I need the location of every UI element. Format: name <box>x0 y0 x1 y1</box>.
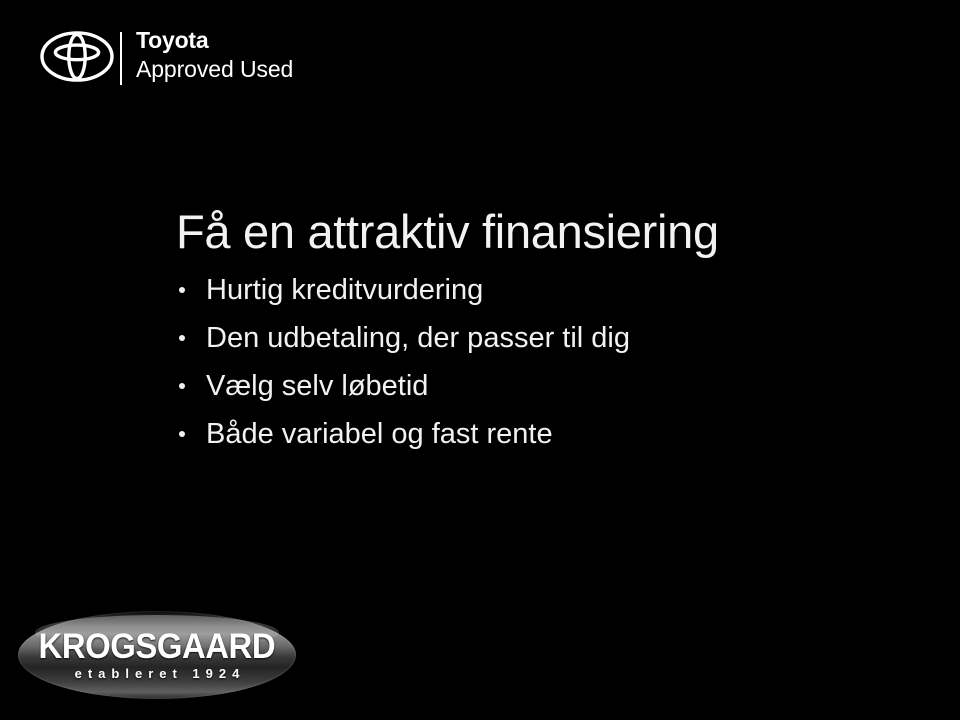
page-title: Få en attraktiv finansiering <box>176 204 856 260</box>
bullet-dot-icon <box>179 287 185 293</box>
presentation-slide: Toyota Approved Used Få en attraktiv fin… <box>0 0 960 720</box>
list-item-label: Vælg selv løbetid <box>206 370 428 402</box>
list-item: Vælg selv løbetid <box>176 362 856 410</box>
list-item: Både variabel og fast rente <box>176 410 856 458</box>
list-item: Hurtig kreditvurdering <box>176 266 856 314</box>
list-item-label: Både variabel og fast rente <box>206 418 553 450</box>
slide-content: Få en attraktiv finansiering Hurtig kred… <box>176 204 856 458</box>
toyota-emblem-icon <box>40 31 114 82</box>
bullet-dot-icon <box>179 431 185 437</box>
brand-subtitle: Approved Used <box>136 54 380 84</box>
krogsgaard-dealer-logo: KROGSGAARD etableret 1924 <box>18 611 296 699</box>
bullet-dot-icon <box>179 335 185 341</box>
dealer-name: KROGSGAARD <box>39 629 276 665</box>
toyota-brand-lockup: Toyota Approved Used <box>40 26 380 92</box>
list-item-label: Den udbetaling, der passer til dig <box>206 322 630 354</box>
bullet-dot-icon <box>179 383 185 389</box>
brand-divider <box>120 32 122 85</box>
dealer-logo-text-block: KROGSGAARD etableret 1924 <box>18 611 296 699</box>
brand-name: Toyota <box>136 26 380 54</box>
dealer-tagline: etableret 1924 <box>69 666 246 682</box>
list-item: Den udbetaling, der passer til dig <box>176 314 856 362</box>
brand-text-block: Toyota Approved Used <box>136 26 380 84</box>
bullet-list: Hurtig kreditvurdering Den udbetaling, d… <box>176 266 856 458</box>
list-item-label: Hurtig kreditvurdering <box>206 274 483 306</box>
